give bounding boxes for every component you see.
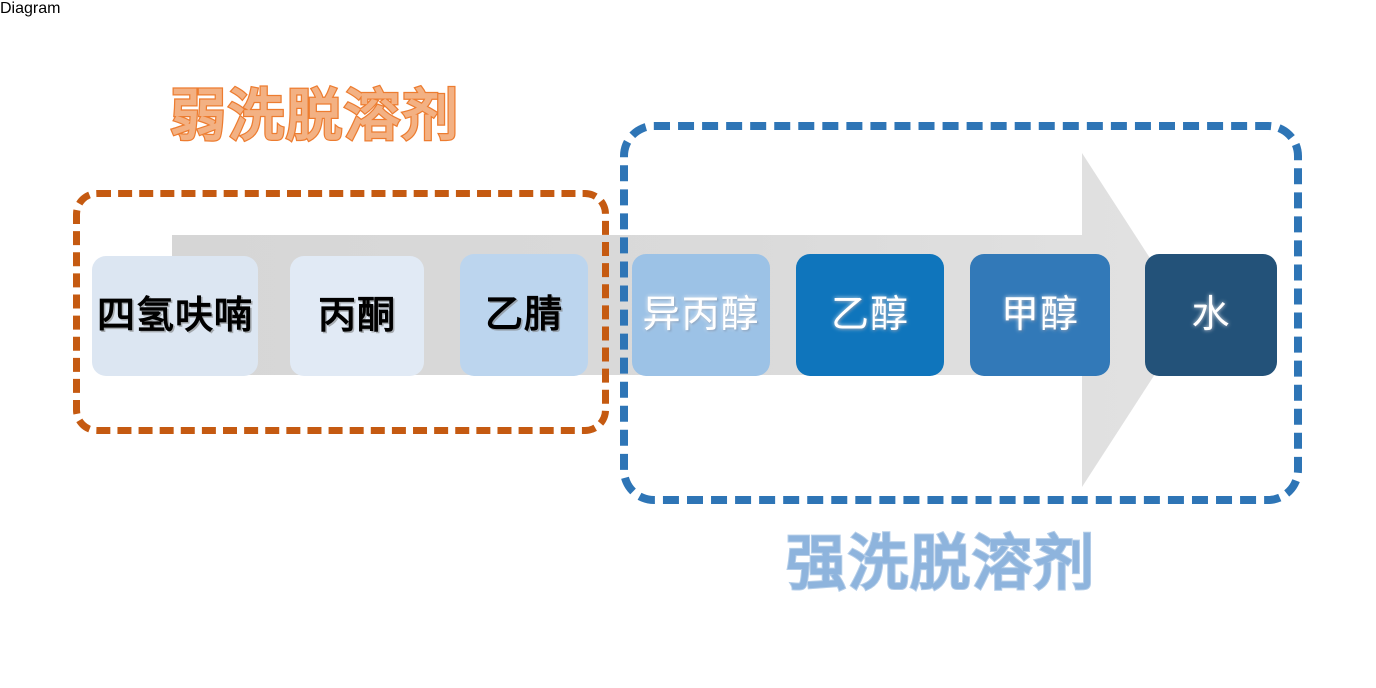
- solvent-chip-methanol[interactable]: 甲醇: [970, 254, 1110, 376]
- solvent-chip-isopropanol[interactable]: 异丙醇: [632, 254, 770, 376]
- group-title-weak-solvents: 弱洗脱溶剂: [170, 88, 460, 144]
- solvent-chip-water[interactable]: 水: [1145, 254, 1277, 376]
- solvent-chip-ethanol[interactable]: 乙醇: [796, 254, 944, 376]
- solvent-chip-acetonitrile[interactable]: 乙腈: [460, 254, 588, 376]
- solvent-chip-thf[interactable]: 四氢呋喃: [92, 256, 258, 376]
- group-title-strong-solvents: 强洗脱溶剂: [786, 534, 1096, 594]
- diagram-canvas: 弱洗脱溶剂 强洗脱溶剂 四氢呋喃 丙酮 乙腈 异丙醇 乙醇 甲醇 水: [0, 0, 1376, 688]
- solvent-chip-acetone[interactable]: 丙酮: [290, 256, 424, 376]
